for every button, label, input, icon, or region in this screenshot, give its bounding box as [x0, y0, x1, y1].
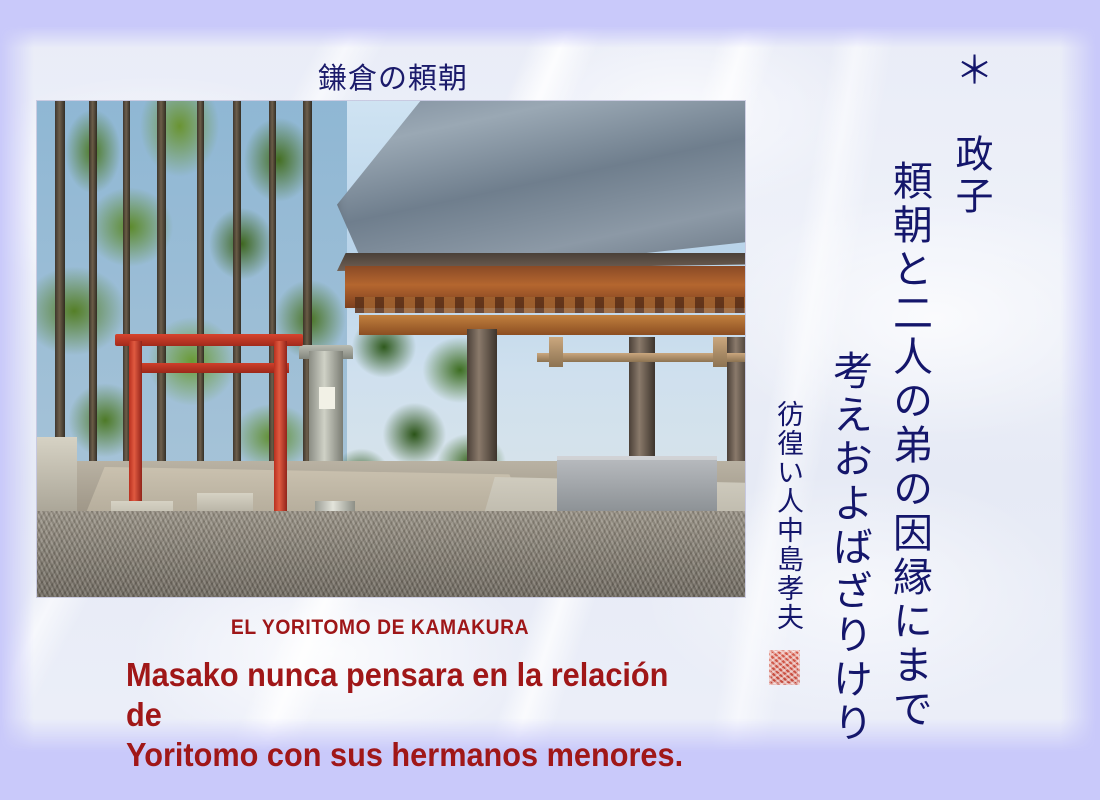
shrine-photograph [37, 101, 745, 597]
photo-forest-canopy [37, 101, 347, 521]
photo-torii-crossbar [129, 363, 289, 373]
caption-body: Masako nunca pensara en la relación de Y… [126, 655, 684, 775]
photo-pavilion-rail [549, 337, 563, 367]
photo-roof-brackets [355, 297, 745, 313]
caption-subtitle: EL YORITOMO DE KAMAKURA [30, 616, 729, 640]
caption-line-2: Yoritomo con sus hermanos menores. [126, 735, 684, 775]
page-title: 鎌倉の頼朝 [318, 62, 468, 96]
hanko-seal-icon [769, 650, 800, 685]
photo-lantern-window [319, 387, 335, 409]
poem-column-left: 考えおよばざりけり [820, 350, 878, 746]
photo-pavilion-rail [713, 337, 727, 367]
photo-tree-trunk [233, 101, 241, 506]
photo-roof-lower-beam [359, 315, 745, 335]
photo-tree-trunk [89, 101, 97, 521]
poem-author-signature: 彷徨い人中島孝夫 [769, 400, 808, 632]
photo-stone-block [37, 437, 77, 517]
poem-column-middle: 頼朝と二人の弟の因縁にまで [880, 160, 938, 732]
photo-torii-right-pillar [274, 341, 287, 531]
poem-column-right: ＊ 政子 [943, 50, 998, 218]
photo-tree-trunk [157, 101, 166, 511]
slide-canvas: 鎌倉の頼朝 [0, 0, 1100, 800]
caption-line-1: Masako nunca pensara en la relación de [126, 655, 684, 735]
photo-gravel [37, 511, 745, 597]
photo-tree-trunk [197, 101, 204, 496]
